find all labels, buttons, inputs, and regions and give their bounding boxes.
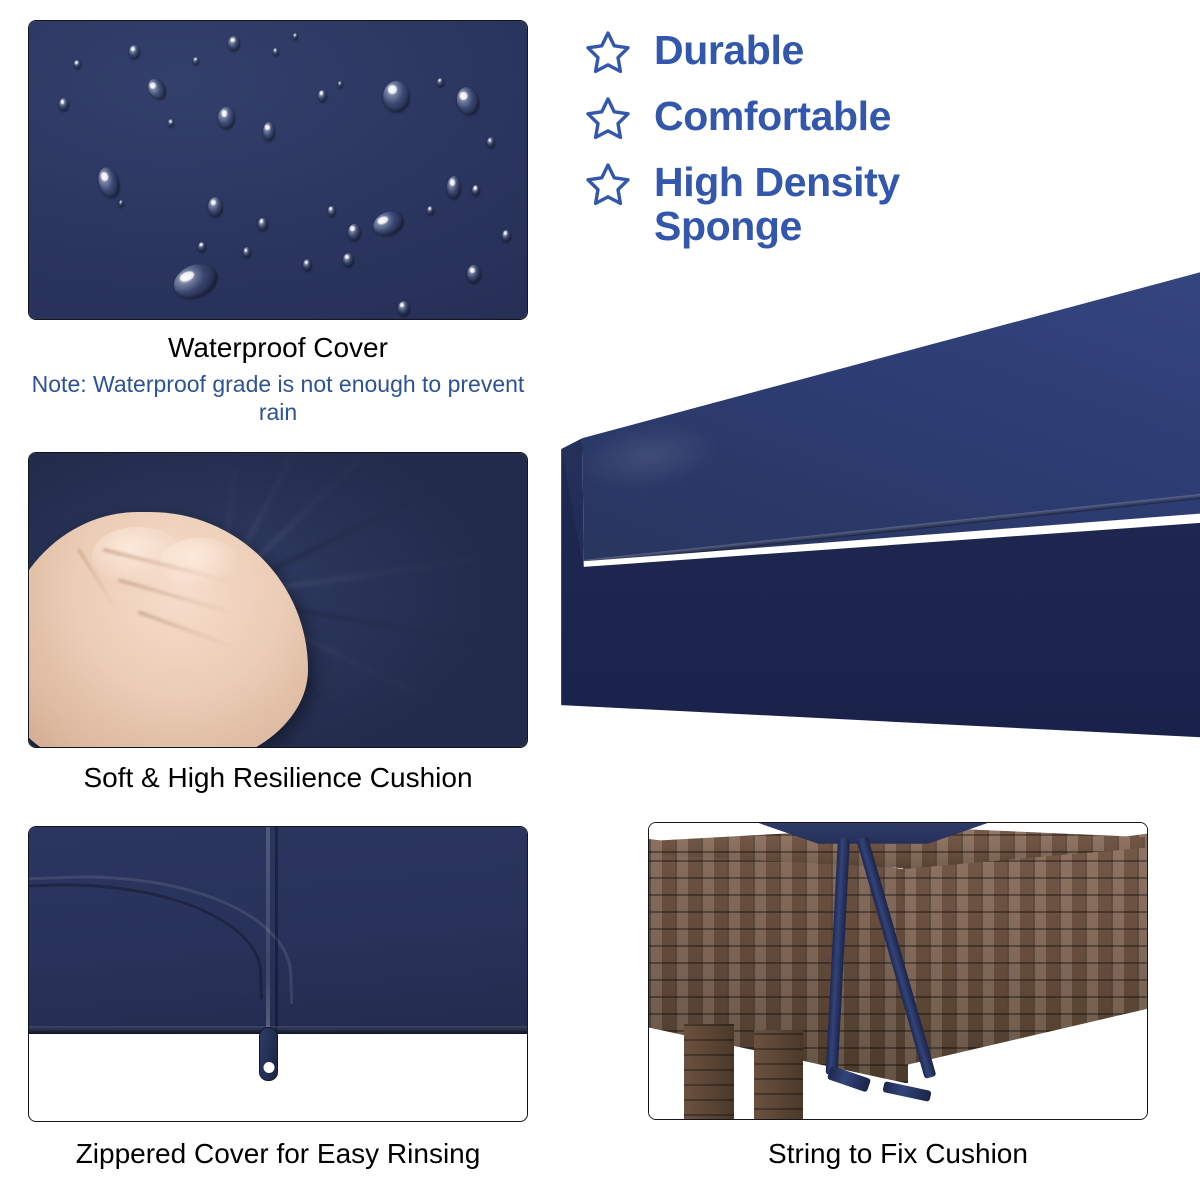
panel-waterproof-cover <box>28 20 528 320</box>
caption-zippered-cover: Zippered Cover for Easy Rinsing <box>28 1138 528 1169</box>
caption-text: Waterproof Cover <box>168 332 388 363</box>
hero-cushion-image <box>556 268 1200 738</box>
zipper-fabric-image <box>29 827 527 1034</box>
panel-zippered-cover <box>28 826 528 1122</box>
caption-text: Soft & High Resilience Cushion <box>83 762 472 793</box>
waterproof-fabric-image <box>29 21 527 319</box>
star-outline-icon <box>584 28 632 76</box>
caption-text: String to Fix Cushion <box>768 1138 1028 1169</box>
note-text: Note: Waterproof grade is not enough to … <box>32 371 525 425</box>
panel-resilience-cushion <box>28 452 528 748</box>
resilience-fabric-image <box>29 453 527 747</box>
feature-item-durable: Durable <box>584 28 1184 76</box>
star-outline-icon <box>584 94 632 142</box>
tie-strap-tail <box>882 1082 931 1103</box>
zipper-pull-icon <box>259 1027 278 1081</box>
caption-resilience-cushion: Soft & High Resilience Cushion <box>28 762 528 793</box>
feature-label: Durable <box>654 28 804 72</box>
feature-label: High Density Sponge <box>654 160 984 249</box>
caption-text: Zippered Cover for Easy Rinsing <box>76 1138 481 1169</box>
feature-item-comfortable: Comfortable <box>584 94 1184 142</box>
star-outline-icon <box>584 160 632 208</box>
feature-item-high-density-sponge: High Density Sponge <box>584 160 1184 249</box>
note-waterproof-grade: Note: Waterproof grade is not enough to … <box>28 370 528 426</box>
caption-waterproof-cover: Waterproof Cover <box>28 332 528 363</box>
rattan-image <box>649 823 1147 1119</box>
feature-label: Comfortable <box>654 94 891 138</box>
caption-string-fix: String to Fix Cushion <box>648 1138 1148 1169</box>
panel-string-fix <box>648 822 1148 1120</box>
feature-list: Durable Comfortable High Density Sponge <box>584 28 1184 267</box>
